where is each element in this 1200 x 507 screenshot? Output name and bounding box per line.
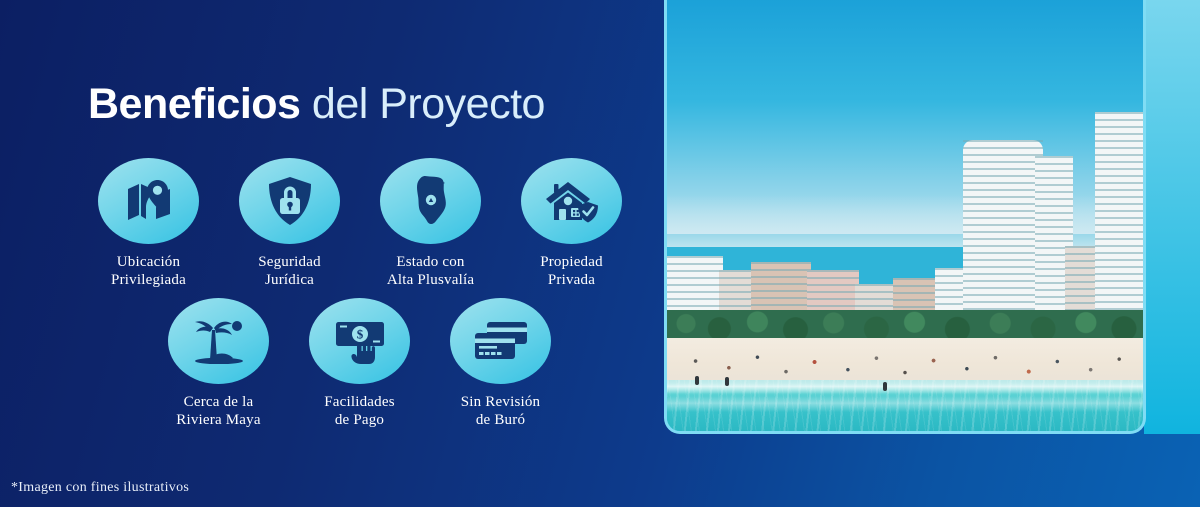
page-title-strong: Beneficios [88,80,300,128]
benefit-label: Ubicación Privilegiada [111,253,186,289]
benefits-row-2: Cerca de la Riviera Maya $ Facilidades d… [148,298,571,429]
right-accent-strip [1144,0,1200,434]
benefit-item-facilidades-de-pago[interactable]: $ Facilidades de Pago [289,298,430,429]
state-map-pin-icon [380,158,481,244]
benefit-item-estado-alta-plusvalia[interactable]: Estado con Alta Plusvalía [360,158,501,289]
cash-hand-icon: $ [309,298,410,384]
svg-text:$: $ [356,327,363,342]
swimmer [725,377,729,386]
benefit-item-cerca-riviera-maya[interactable]: Cerca de la Riviera Maya [148,298,289,429]
beach-crowd [667,338,1143,386]
benefit-item-propiedad-privada[interactable]: Propiedad Privada [501,158,642,289]
palm-tree-sun-icon [168,298,269,384]
swimmer [883,382,887,391]
shield-lock-icon [239,158,340,244]
benefit-item-seguridad-juridica[interactable]: Seguridad Jurídica [219,158,360,289]
benefit-item-ubicacion-privilegiada[interactable]: Ubicación Privilegiada [78,158,219,289]
benefit-label: Cerca de la Riviera Maya [176,393,260,429]
map-pin-icon [98,158,199,244]
benefit-label: Facilidades de Pago [324,393,395,429]
benefit-label: Estado con Alta Plusvalía [387,253,474,289]
benefits-row-1: Ubicación Privilegiada Seguridad Jurídic… [78,158,642,289]
benefit-label: Sin Revisión de Buró [461,393,541,429]
high-rise-tower [963,140,1043,328]
benefit-label: Propiedad Privada [540,253,603,289]
footnote-text: *Imagen con fines ilustrativos [11,480,189,496]
house-shield-check-icon [521,158,622,244]
benefit-label: Seguridad Jurídica [258,253,321,289]
swimmer [695,376,699,385]
benefit-item-sin-revision-de-buro[interactable]: Sin Revisión de Buró [430,298,571,429]
page-title: Beneficios del Proyecto [88,80,545,129]
sea-water [667,380,1143,434]
high-rise-tower [1095,112,1146,328]
beach-resort-photo [664,0,1146,434]
beach-sand [667,338,1143,386]
slide-canvas: Beneficios del Proyecto Ubicación Privil… [0,0,1200,507]
water-ripples [667,380,1143,434]
page-title-light: del Proyecto [300,80,544,128]
photo-content [667,0,1143,431]
left-content-panel: Beneficios del Proyecto Ubicación Privil… [0,0,650,507]
credit-cards-icon [450,298,551,384]
